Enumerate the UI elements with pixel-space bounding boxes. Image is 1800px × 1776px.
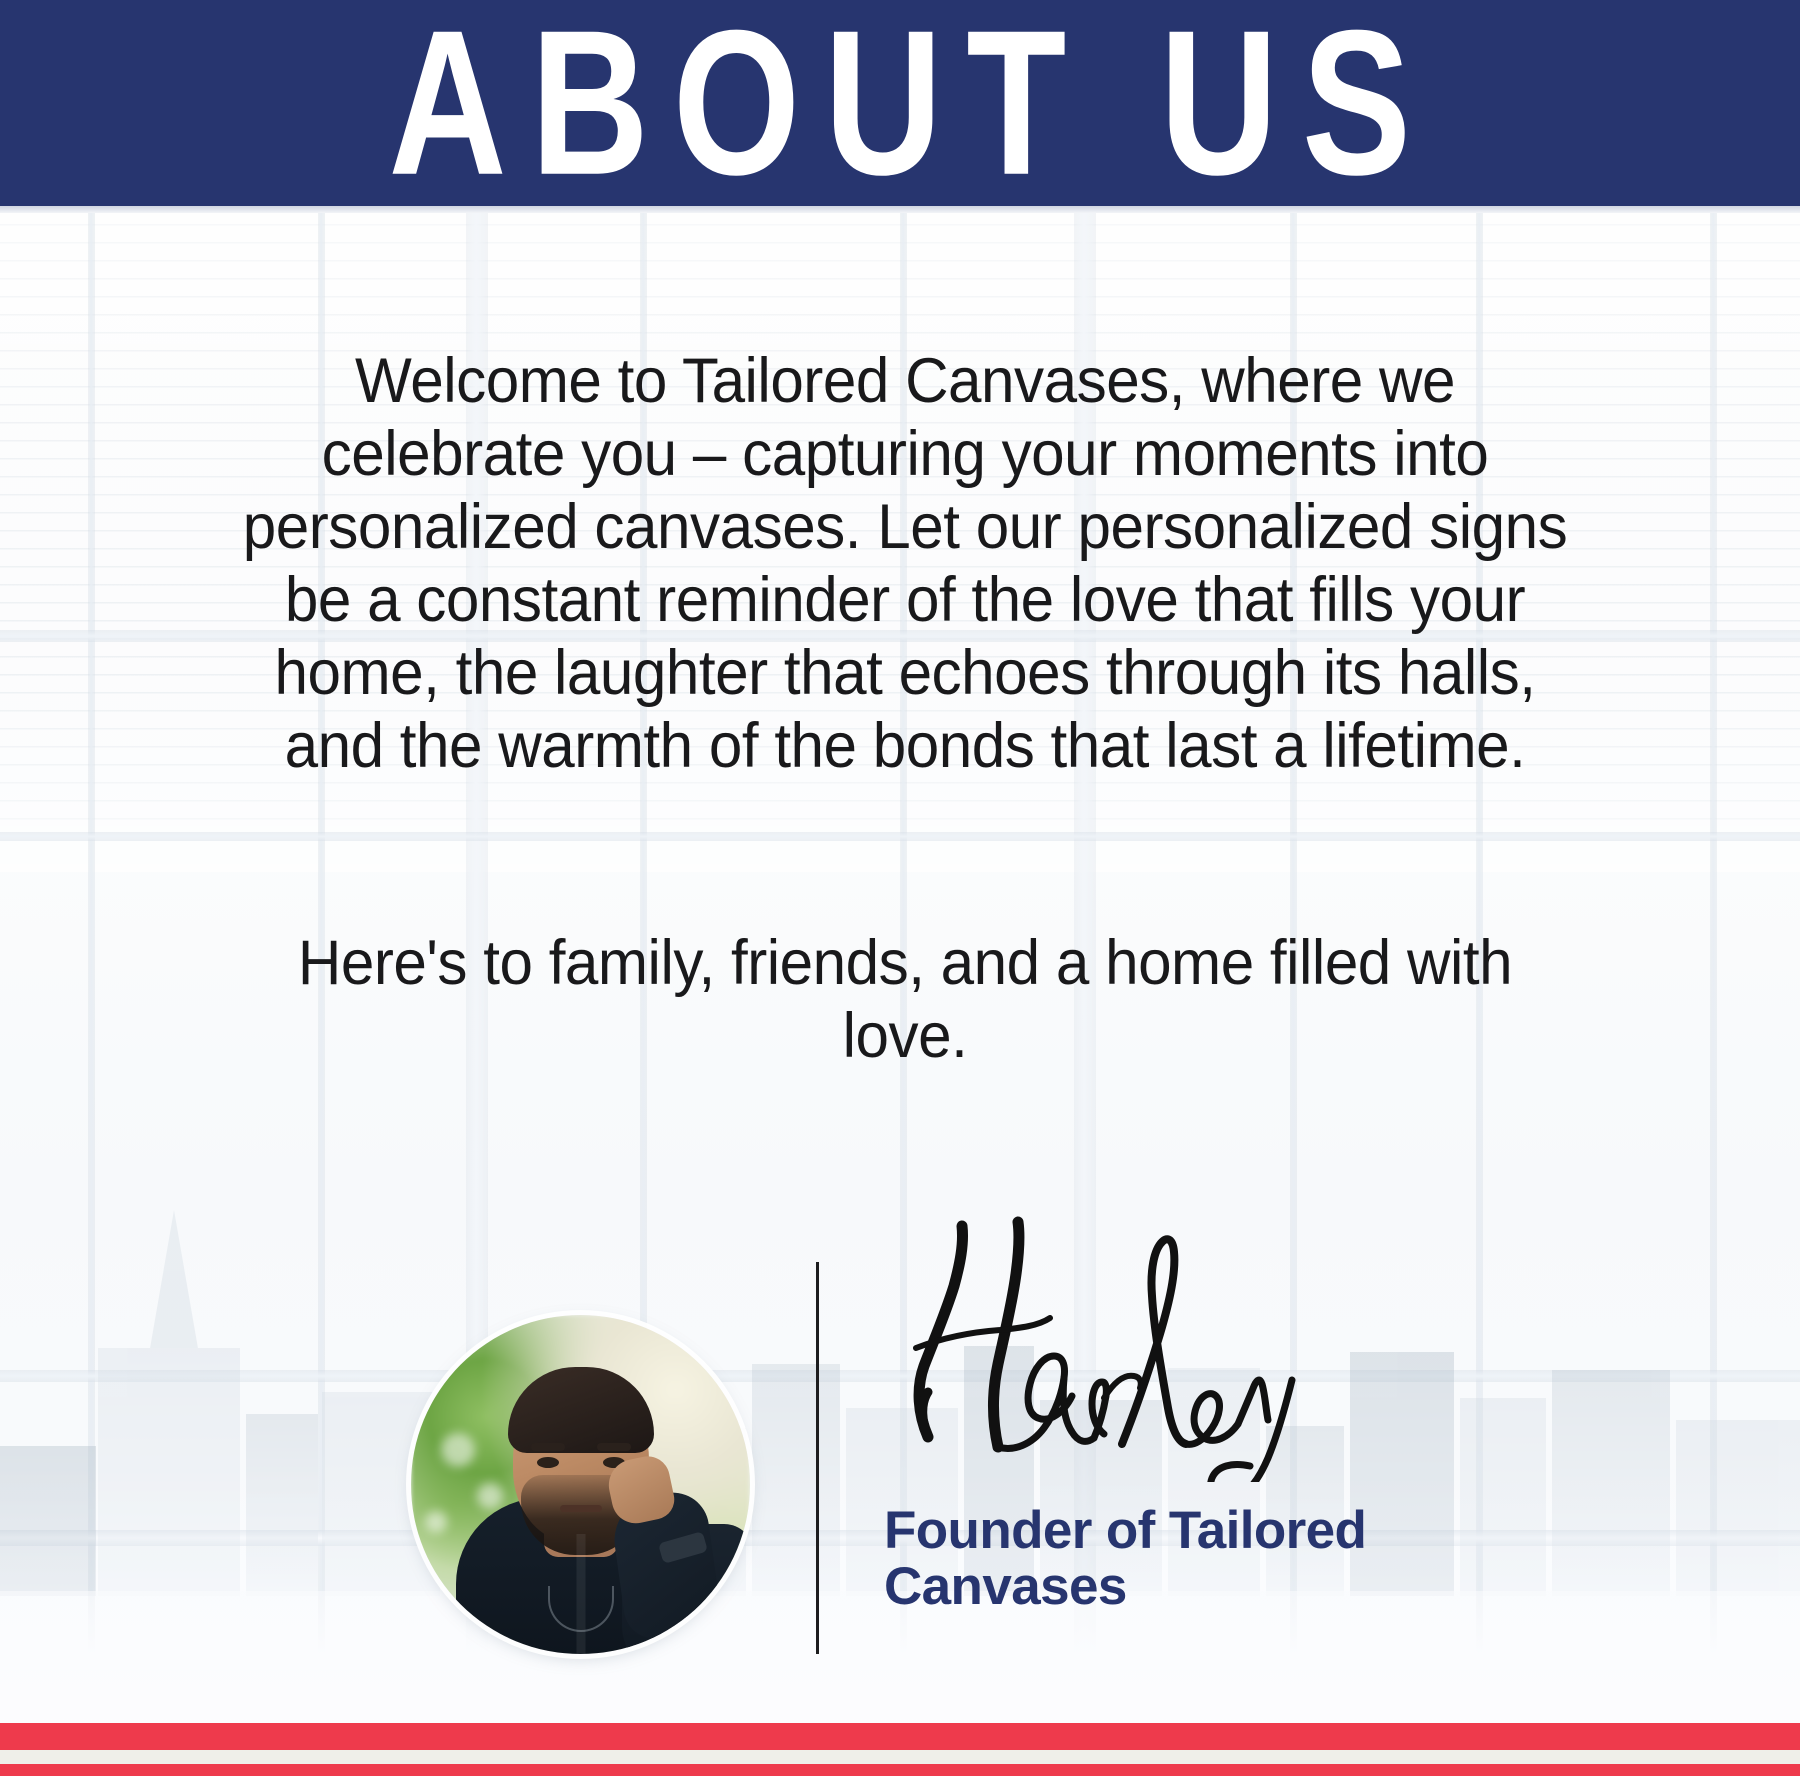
vertical-divider (816, 1262, 819, 1654)
bokeh-dot (441, 1433, 475, 1467)
footer-bar-bottom (0, 1764, 1800, 1776)
about-us-graphic: ABOUT US Welcome to Tailored Canvases, w… (0, 0, 1800, 1776)
page-title: ABOUT US (365, 0, 1435, 206)
avatar-eyebrow (597, 1443, 631, 1451)
paragraph-intro: Welcome to Tailored Canvases, where we c… (241, 345, 1568, 783)
building (98, 1348, 240, 1596)
signature-script-icon (872, 1152, 1372, 1482)
building (246, 1414, 318, 1596)
avatar-eye (537, 1457, 559, 1468)
about-us-text: Welcome to Tailored Canvases, where we c… (241, 272, 1568, 1146)
building (0, 1446, 96, 1596)
footer-bar-top (0, 1723, 1800, 1750)
avatar-eyebrow (531, 1443, 565, 1451)
bokeh-dot (425, 1511, 447, 1533)
avatar (411, 1315, 750, 1654)
building (752, 1364, 840, 1596)
header-band: ABOUT US (0, 0, 1800, 206)
bokeh-dot (477, 1483, 503, 1509)
building (1676, 1420, 1800, 1596)
founder-title: Founder of Tailored Canvases (884, 1503, 1484, 1615)
building (1552, 1370, 1670, 1596)
paragraph-closing: Here's to family, friends, and a home fi… (241, 927, 1568, 1073)
avatar-mouth (560, 1505, 602, 1512)
founder-signature (872, 1152, 1372, 1482)
pyramid-tower (148, 1210, 200, 1360)
header-bottom-edge (0, 206, 1800, 213)
footer-bar-gap (0, 1750, 1800, 1764)
